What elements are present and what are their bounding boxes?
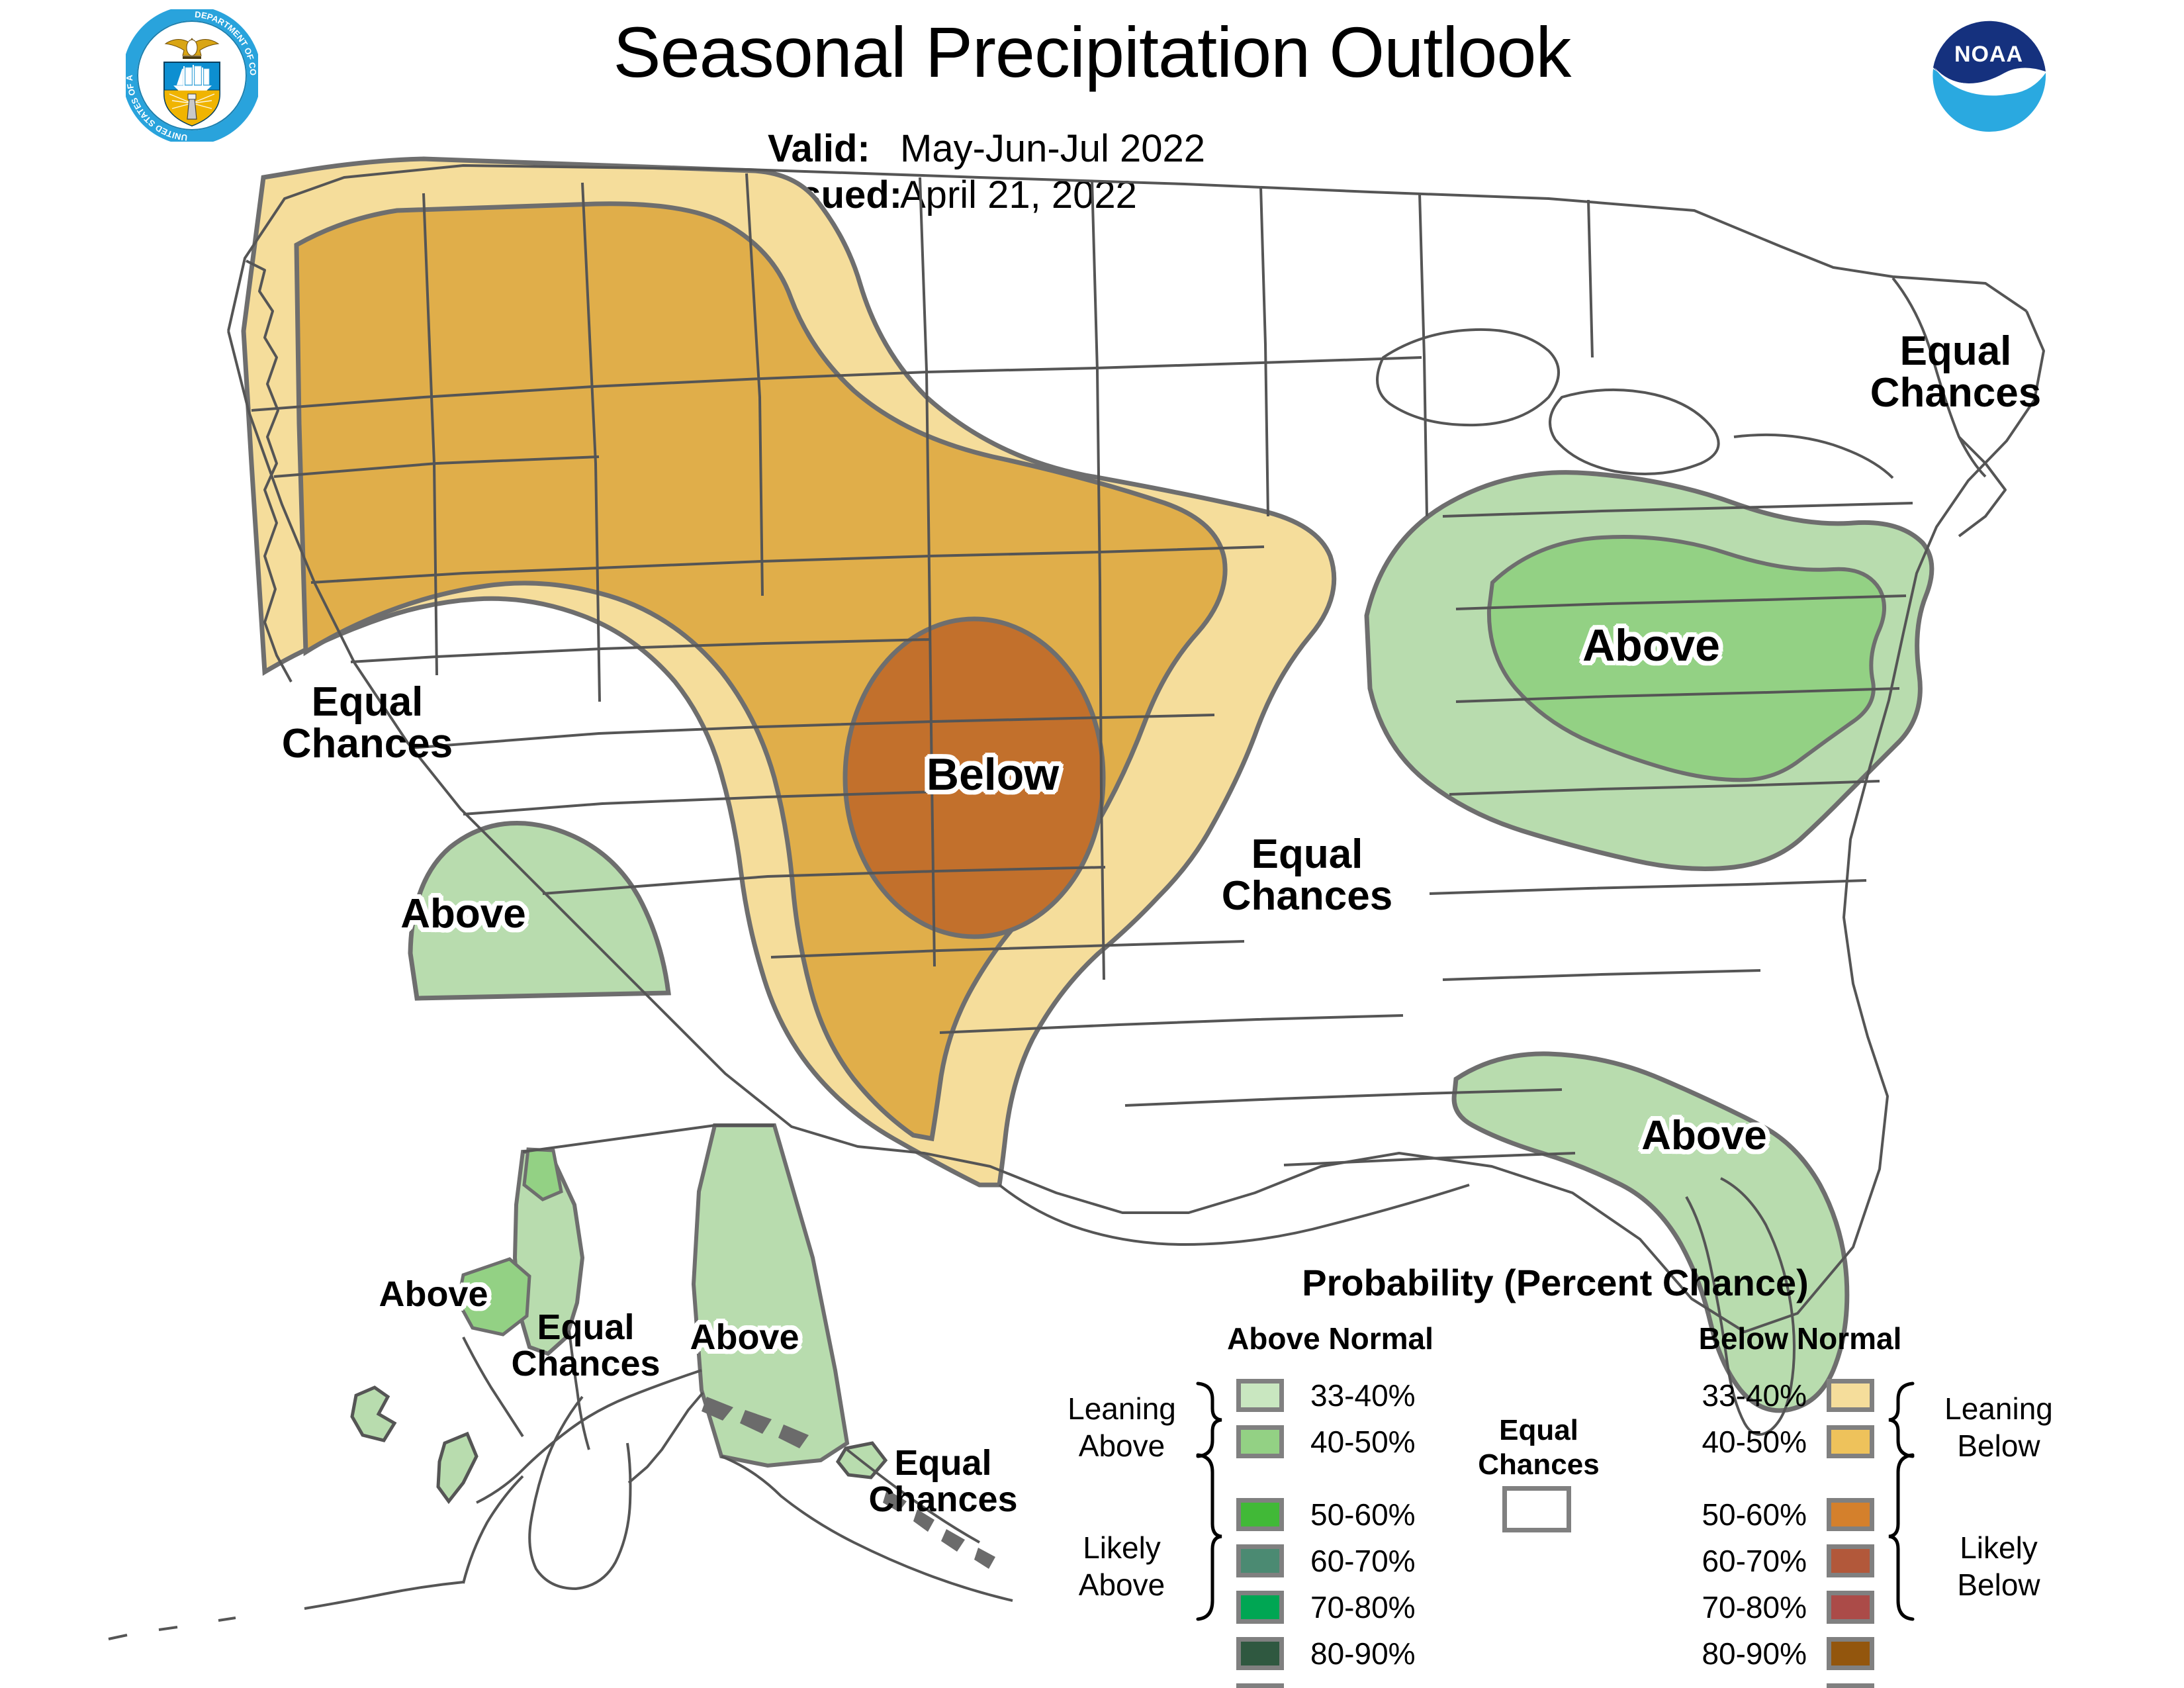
legend-above-swatch-90-100 <box>1236 1683 1284 1688</box>
legend-below-range-70-80: 70-80% <box>1661 1589 1807 1625</box>
legend-below-range-33-40: 33-40% <box>1661 1378 1807 1413</box>
map-label-above-gulf: Above <box>1532 1115 1876 1156</box>
map-label-ec-south: Equal Chances <box>1135 833 1479 917</box>
legend-below-range-60-70: 60-70% <box>1661 1543 1807 1579</box>
legend-below-swatch-40-50 <box>1827 1425 1874 1458</box>
map-label-ec-northeast: Equal Chances <box>1784 330 2128 414</box>
legend-likely-below-label: Likely Below <box>1923 1529 2075 1603</box>
legend-above-swatch-60-70 <box>1236 1544 1284 1577</box>
map-label-below-plains: Below <box>821 752 1165 798</box>
legend-above-range-90-100: 90-100% <box>1310 1682 1432 1688</box>
legend-above-swatch-50-60 <box>1236 1498 1284 1531</box>
legend-below-normal-header: Below Normal <box>1681 1321 1919 1356</box>
legend-below-range-80-90: 80-90% <box>1661 1636 1807 1671</box>
legend: Probability (Percent Chance) Above Norma… <box>979 1261 2131 1685</box>
legend-below-swatch-33-40 <box>1827 1379 1874 1412</box>
legend-above-range-33-40: 33-40% <box>1310 1378 1416 1413</box>
legend-above-swatch-70-80 <box>1236 1591 1284 1624</box>
legend-below-range-40-50: 40-50% <box>1661 1424 1807 1460</box>
map-label-ec-west: Equal Chances <box>195 681 539 765</box>
legend-below-swatch-70-80 <box>1827 1591 1874 1624</box>
map-label-above-ohio: Above <box>1479 623 1823 669</box>
legend-above-range-50-60: 50-60% <box>1310 1497 1416 1532</box>
legend-leaning-above-label: Leaning Above <box>1052 1390 1191 1464</box>
legend-below-swatch-60-70 <box>1827 1544 1874 1577</box>
legend-above-swatch-80-90 <box>1236 1637 1284 1670</box>
legend-above-range-80-90: 80-90% <box>1310 1636 1416 1671</box>
legend-above-range-60-70: 60-70% <box>1310 1543 1416 1579</box>
legend-title: Probability (Percent Chance) <box>979 1261 2131 1304</box>
map-label-above-ak-main: Above <box>572 1319 917 1356</box>
legend-above-range-40-50: 40-50% <box>1310 1424 1416 1460</box>
map-label-above-sw: Above <box>291 893 635 935</box>
legend-likely-above-label: Likely Above <box>1052 1529 1191 1603</box>
legend-below-swatch-90-100 <box>1827 1683 1874 1688</box>
legend-equal-chances-label: Equal Chances <box>1469 1413 1608 1482</box>
legend-above-normal-header: Above Normal <box>1211 1321 1449 1356</box>
legend-above-swatch-40-50 <box>1236 1425 1284 1458</box>
legend-below-swatch-50-60 <box>1827 1498 1874 1531</box>
legend-leaning-below-label: Leaning Below <box>1923 1390 2075 1464</box>
legend-below-range-90-100: 90-100% <box>1661 1682 1807 1688</box>
legend-above-range-70-80: 70-80% <box>1310 1589 1416 1625</box>
legend-below-range-50-60: 50-60% <box>1661 1497 1807 1532</box>
legend-above-swatch-33-40 <box>1236 1379 1284 1412</box>
outlook-page: DEPARTMENT OF COMMERCE UNITED STATES OF … <box>0 0 2184 1688</box>
legend-below-swatch-80-90 <box>1827 1637 1874 1670</box>
legend-equal-chances-swatch <box>1502 1486 1571 1532</box>
